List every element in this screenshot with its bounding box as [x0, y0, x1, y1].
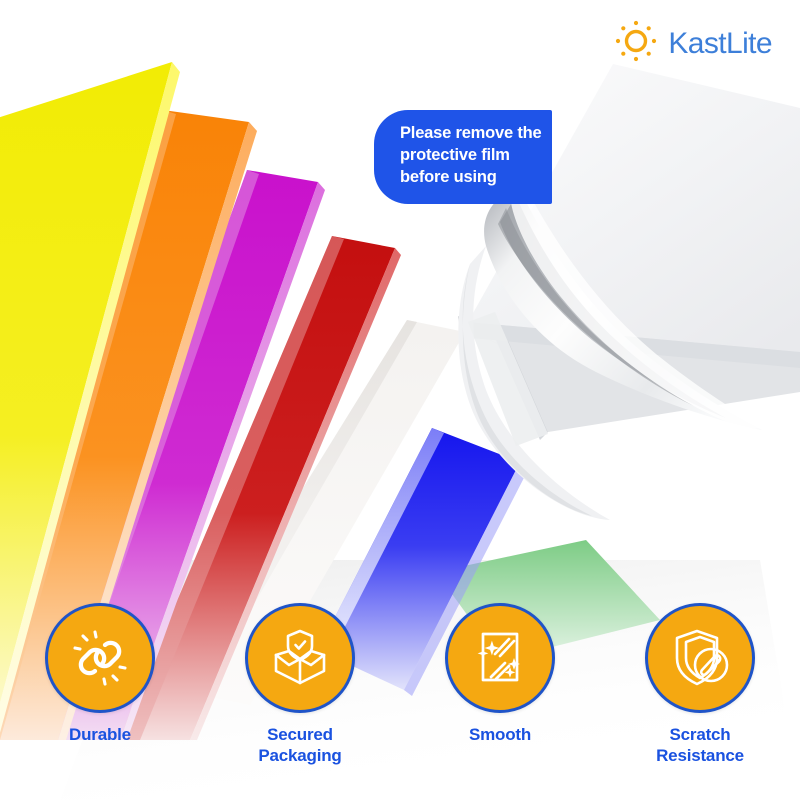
callout-line-1: Please remove the — [400, 123, 538, 145]
smooth-caption: Smooth — [469, 725, 531, 745]
scratch-resistance-label-1: Scratch — [670, 725, 731, 744]
durable-badge — [45, 603, 155, 713]
sparkle-panel-icon — [467, 625, 533, 691]
chain-link-icon — [67, 625, 133, 691]
brand-logo: KastLite — [613, 18, 772, 69]
scratch-resistance-label-2: Resistance — [656, 746, 744, 766]
secured-packaging-label-1: Secured — [267, 725, 333, 744]
durable-label-1: Durable — [69, 725, 131, 744]
sun-icon — [613, 18, 659, 69]
protective-film-callout: Please remove the protective film before… — [374, 110, 552, 204]
brand-wordmark: KastLite — [668, 29, 772, 59]
shield-knife-icon — [667, 625, 733, 691]
feature-secured-packaging: Secured Packaging — [200, 603, 400, 766]
product-image-canvas: KastLite Please remove the protective fi… — [0, 0, 800, 800]
feature-scratch-resistance: Scratch Resistance — [600, 603, 800, 766]
scratch-resistance-caption: Scratch Resistance — [656, 725, 744, 766]
shield-box-icon — [267, 625, 333, 691]
feature-badge-row: Durable — [0, 603, 800, 766]
durable-caption: Durable — [69, 725, 131, 745]
smooth-badge — [445, 603, 555, 713]
feature-smooth: Smooth — [400, 603, 600, 766]
callout-line-3: before using — [400, 167, 538, 189]
secured-packaging-label-2: Packaging — [258, 746, 341, 766]
secured-packaging-caption: Secured Packaging — [258, 725, 341, 766]
smooth-label-1: Smooth — [469, 725, 531, 744]
callout-line-2: protective film — [400, 145, 538, 167]
feature-durable: Durable — [0, 603, 200, 766]
scratch-resistance-badge — [645, 603, 755, 713]
secured-packaging-badge — [245, 603, 355, 713]
